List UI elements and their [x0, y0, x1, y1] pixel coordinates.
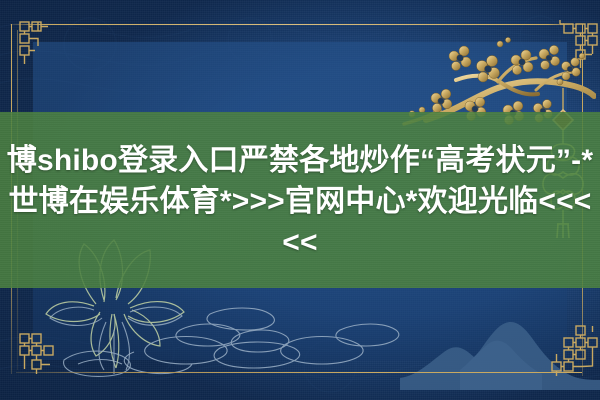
- fret-corner-bottom-left-icon: [18, 330, 62, 382]
- banner-image: 博shibo登录入口严禁各地炒作“高考状元”-*世博在娱乐体育*>>>官网中心*…: [0, 0, 600, 400]
- gold-rule-bottom: [16, 372, 582, 373]
- overlay-headline-text: 博shibo登录入口严禁各地炒作“高考状元”-*世博在娱乐体育*>>>官网中心*…: [0, 140, 600, 263]
- auspicious-clouds-icon: [110, 300, 420, 380]
- fret-corner-top-left-icon: [18, 20, 58, 72]
- fret-corner-bottom-right-icon: [548, 324, 600, 384]
